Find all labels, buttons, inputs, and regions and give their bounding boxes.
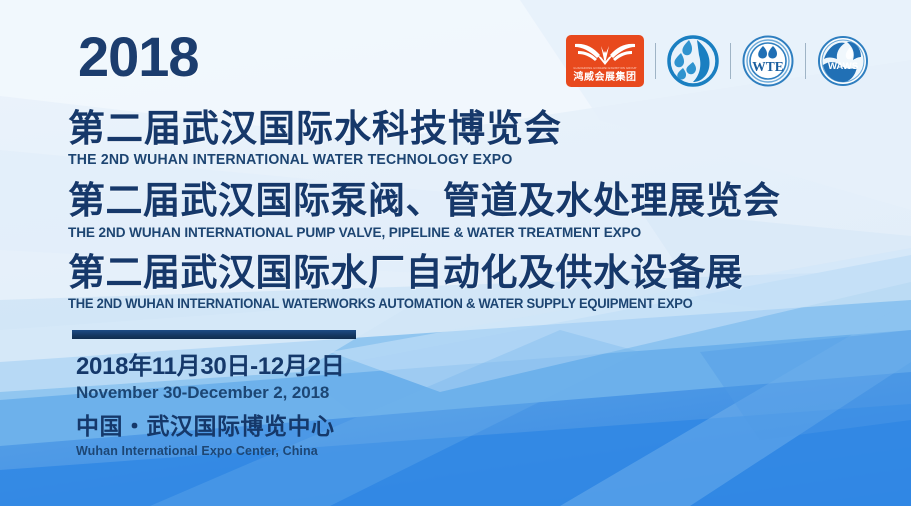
logo-divider xyxy=(655,43,656,79)
wte-circle-logo[interactable]: WTE xyxy=(742,35,794,87)
year-heading: 2018 xyxy=(78,28,199,86)
event-venue-en: Wuhan International Expo Center, China xyxy=(76,443,344,459)
svg-text:WTE: WTE xyxy=(752,59,784,74)
hongwei-logo-en-text: GUANGDONG HONGWEI EXHIBITION GROUP xyxy=(573,67,636,71)
svg-text:WAWS: WAWS xyxy=(828,61,858,72)
expo-title-1: 第二届武汉国际水科技博览会 THE 2ND WUHAN INTERNATIONA… xyxy=(68,108,562,169)
expo-title-3-cn: 第二届武汉国际水厂自动化及供水设备展 xyxy=(68,252,743,294)
expo-title-1-en: THE 2ND WUHAN INTERNATIONAL WATER TECHNO… xyxy=(68,151,547,169)
expo-title-2: 第二届武汉国际泵阀、管道及水处理展览会 THE 2ND WUHAN INTERN… xyxy=(68,180,781,241)
expo-title-3-en: THE 2ND WUHAN INTERNATIONAL WATERWORKS A… xyxy=(68,295,723,313)
logo-divider xyxy=(805,43,806,79)
navy-divider-bar xyxy=(72,330,356,339)
water-drop-circle-logo[interactable] xyxy=(667,35,719,87)
event-date-cn: 2018年11月30日-12月2日 xyxy=(76,352,344,381)
event-date-en: November 30-December 2, 2018 xyxy=(76,382,344,404)
expo-title-2-cn: 第二届武汉国际泵阀、管道及水处理展览会 xyxy=(68,180,781,222)
waws-emblem-icon: WAWS xyxy=(817,35,869,87)
expo-title-3: 第二届武汉国际水厂自动化及供水设备展 THE 2ND WUHAN INTERNA… xyxy=(68,252,743,313)
event-venue-cn: 中国・武汉国际博览中心 xyxy=(76,412,344,440)
expo-banner: GUANGDONG HONGWEI EXHIBITION GROUP 鸿威会展集… xyxy=(0,0,911,506)
expo-title-2-en: THE 2ND WUHAN INTERNATIONAL PUMP VALVE, … xyxy=(68,223,759,241)
logo-divider xyxy=(730,43,731,79)
expo-title-1-cn: 第二届武汉国际水科技博览会 xyxy=(68,108,562,150)
hongwei-exhibition-group-logo[interactable]: GUANGDONG HONGWEI EXHIBITION GROUP 鸿威会展集… xyxy=(566,35,644,87)
wing-w-icon xyxy=(573,38,637,66)
waws-circle-logo[interactable]: WAWS xyxy=(817,35,869,87)
wte-emblem-icon: WTE xyxy=(742,35,794,87)
water-drop-icon xyxy=(667,35,719,87)
logo-strip: GUANGDONG HONGWEI EXHIBITION GROUP 鸿威会展集… xyxy=(566,30,869,92)
event-info-block: 2018年11月30日-12月2日 November 30-December 2… xyxy=(76,352,344,459)
hongwei-logo-cn-text: 鸿威会展集团 xyxy=(574,72,637,83)
